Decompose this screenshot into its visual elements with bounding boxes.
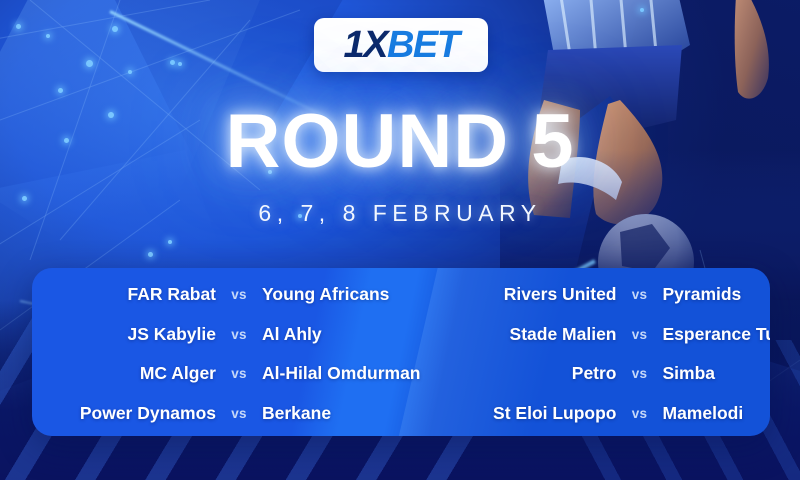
particle-dot [640, 8, 644, 12]
promo-banner: 1XBET ROUND 5 6, 7, 8 FEBRUARY FAR Rabat… [0, 0, 800, 480]
particle-dot [128, 70, 132, 74]
particle-dot [170, 60, 175, 65]
match-row[interactable]: St Eloi Lupopo vs Mamelodi [449, 405, 771, 423]
team-home: MC Alger [48, 365, 216, 383]
brand-logo-1x: 1X [344, 26, 387, 64]
vs-label: vs [617, 367, 663, 381]
match-row[interactable]: Stade Malien vs Esperance Tunis [449, 326, 771, 344]
vs-label: vs [216, 407, 262, 421]
particle-dot [252, 456, 257, 461]
round-date: 6, 7, 8 FEBRUARY [0, 200, 800, 227]
round-title: ROUND 5 [0, 104, 800, 180]
brand-logo-bet: BET [387, 26, 459, 64]
match-row[interactable]: FAR Rabat vs Young Africans [48, 286, 421, 304]
particle-dot [300, 444, 304, 448]
vs-label: vs [216, 288, 262, 302]
particle-dot [236, 470, 240, 474]
match-row[interactable]: MC Alger vs Al-Hilal Omdurman [48, 365, 421, 383]
team-away: Esperance Tunis [663, 326, 771, 344]
match-row[interactable]: Power Dynamos vs Berkane [48, 405, 421, 423]
vs-label: vs [617, 288, 663, 302]
team-away: Simba [663, 365, 771, 383]
team-away: Young Africans [262, 286, 421, 304]
match-row[interactable]: JS Kabylie vs Al Ahly [48, 326, 421, 344]
particle-dot [168, 240, 172, 244]
team-home: JS Kabylie [48, 326, 216, 344]
team-away: Berkane [262, 405, 421, 423]
team-home: FAR Rabat [48, 286, 216, 304]
fixtures-column-left: FAR Rabat vs Young Africans JS Kabylie v… [48, 286, 435, 422]
team-home: Power Dynamos [48, 405, 216, 423]
team-home: Petro [449, 365, 617, 383]
match-row[interactable]: Rivers United vs Pyramids [449, 286, 771, 304]
particle-dot [148, 252, 153, 257]
team-away: Al-Hilal Omdurman [262, 365, 421, 383]
team-away: Pyramids [663, 286, 771, 304]
vs-label: vs [617, 328, 663, 342]
particle-dot [46, 34, 50, 38]
particle-dot [320, 464, 325, 469]
particle-dot [16, 24, 21, 29]
brand-logo[interactable]: 1XBET [314, 18, 488, 72]
team-home: St Eloi Lupopo [449, 405, 617, 423]
fixtures-columns: FAR Rabat vs Young Africans JS Kabylie v… [32, 268, 770, 436]
particle-dot [178, 62, 182, 66]
fixtures-card: FAR Rabat vs Young Africans JS Kabylie v… [32, 268, 770, 436]
vs-label: vs [216, 328, 262, 342]
team-home: Stade Malien [449, 326, 617, 344]
team-home: Rivers United [449, 286, 617, 304]
particle-dot [58, 88, 63, 93]
vs-label: vs [617, 407, 663, 421]
team-away: Al Ahly [262, 326, 421, 344]
particle-dot [112, 26, 118, 32]
fixtures-column-right: Rivers United vs Pyramids Stade Malien v… [435, 286, 771, 422]
vs-label: vs [216, 367, 262, 381]
brand-logo-text: 1XBET [344, 26, 459, 64]
match-row[interactable]: Petro vs Simba [449, 365, 771, 383]
particle-dot [86, 60, 93, 67]
team-away: Mamelodi [663, 405, 771, 423]
